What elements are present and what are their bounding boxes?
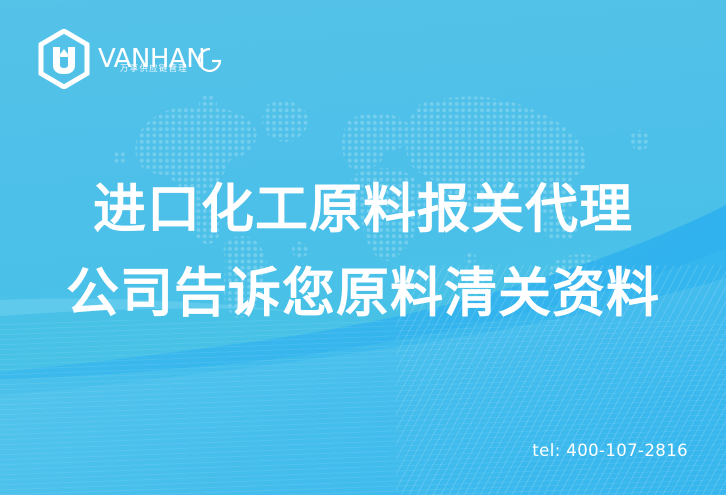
headline-line-1: 进口化工原料报关代理 [0,168,726,252]
promo-banner: VANHAN 万享供应链管理 进口化工原料报关代理 公司告诉您原料清关资料 te… [0,0,726,495]
vanhang-logo[interactable]: VANHAN 万享供应链管理 [36,28,224,90]
headline-block: 进口化工原料报关代理 公司告诉您原料清关资料 [0,168,726,336]
contact-phone[interactable]: tel: 400-107-2816 [532,441,688,460]
vanhang-wordmark: VANHAN [98,40,224,80]
headline-line-2: 公司告诉您原料清关资料 [0,252,726,336]
logo-subtitle: 万享供应链管理 [120,62,188,74]
diagonal-line-texture [0,320,726,495]
vanhang-hexagon-mark [36,29,92,89]
logo-text-block: VANHAN 万享供应链管理 [98,36,224,82]
